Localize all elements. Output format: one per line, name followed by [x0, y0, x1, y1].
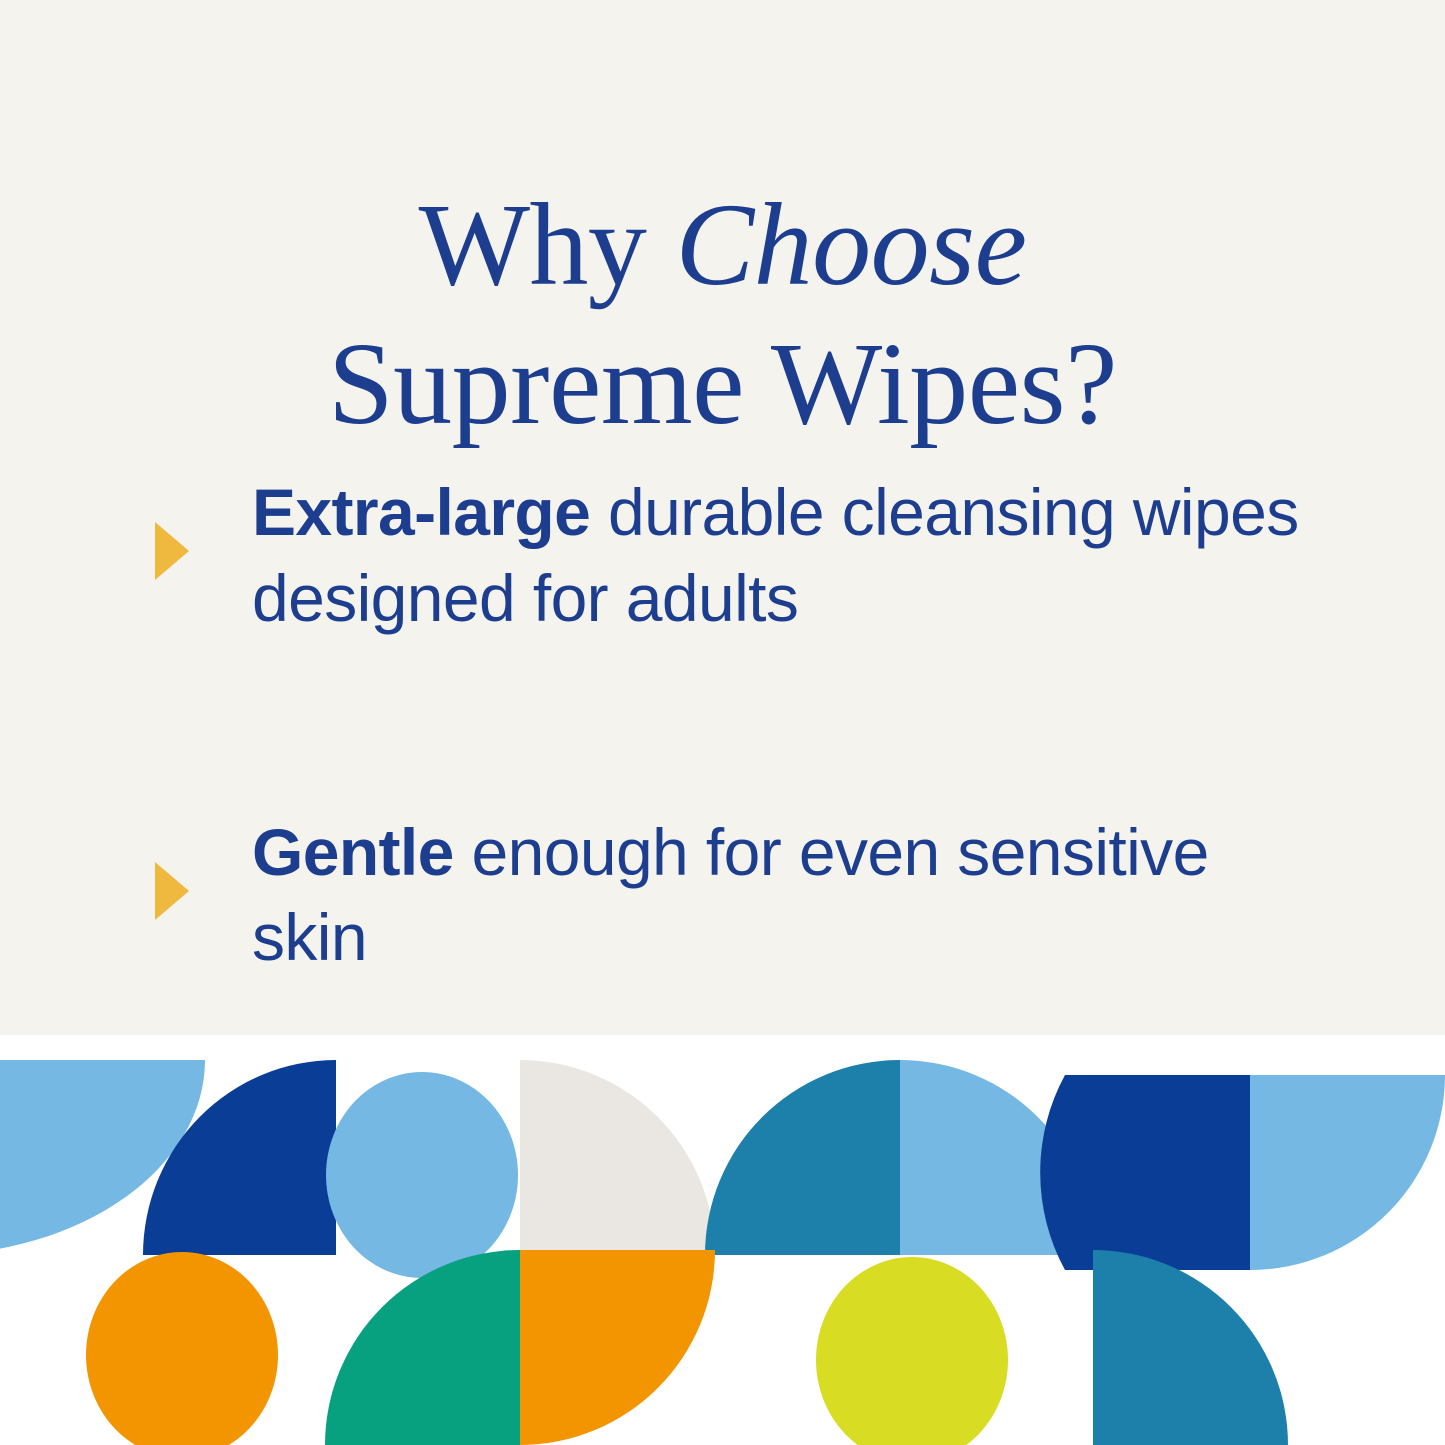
triangle-right-icon: [155, 522, 189, 580]
benefit-text: Gentle enough for even sensitive skin: [252, 810, 1335, 982]
navy-half-disc-right: [1040, 1075, 1250, 1270]
triangle-right-icon: [155, 862, 189, 920]
benefit-lead: Extra-large: [252, 475, 590, 549]
page-title-prefix: Why: [419, 179, 676, 310]
list-item: Gentle enough for even sensitive skin: [0, 810, 1445, 982]
benefit-list: Extra-large durable cleansing wipes desi…: [0, 470, 1445, 981]
benefit-lead: Gentle: [252, 815, 454, 889]
list-item: Extra-large durable cleansing wipes desi…: [0, 470, 1445, 642]
geometric-pattern-svg: [0, 1035, 1445, 1445]
benefit-text: Extra-large durable cleansing wipes desi…: [252, 470, 1335, 642]
page-title-line-2: Supreme Wipes?: [0, 314, 1445, 453]
page-title-line-1: Why Choose: [0, 175, 1445, 314]
page-title: Why Choose Supreme Wipes?: [0, 175, 1445, 453]
promo-poster: Why Choose Supreme Wipes? Extra-large du…: [0, 0, 1445, 1445]
decorative-pattern-band: [0, 1035, 1445, 1445]
page-title-emphasis: Choose: [675, 179, 1026, 310]
light-blue-circle-top: [326, 1072, 518, 1278]
